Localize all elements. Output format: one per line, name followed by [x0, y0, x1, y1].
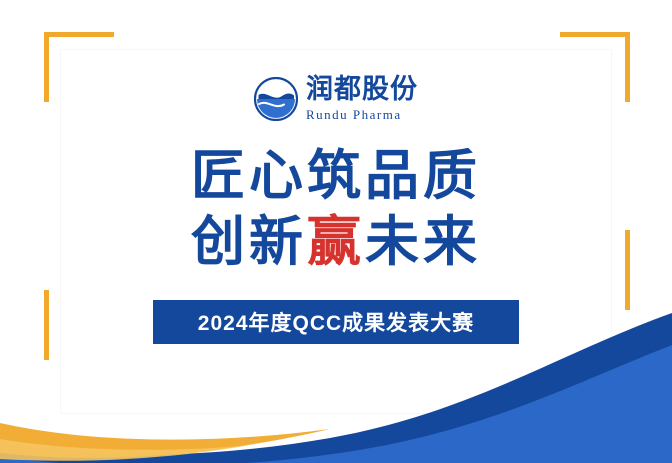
headline: 匠心筑品质 创新赢未来 [61, 144, 611, 276]
brand-name-cn: 润都股份 [306, 76, 418, 103]
subtitle-banner: 2024年度QCC成果发表大赛 [153, 300, 519, 344]
rundu-wave-logo-icon [254, 77, 298, 121]
subtitle-text: 2024年度QCC成果发表大赛 [198, 307, 474, 337]
brand-name-en: Rundu Pharma [306, 108, 402, 121]
headline-line-2-part1: 创新 [191, 212, 307, 272]
headline-line-2-part2: 未来 [365, 212, 481, 272]
headline-line-2: 创新赢未来 [61, 210, 611, 276]
brand-logo: 润都股份 Rundu Pharma [61, 76, 611, 121]
brand-text: 润都股份 Rundu Pharma [306, 76, 418, 121]
headline-line-2-highlight: 赢 [307, 212, 365, 272]
poster-canvas: 润都股份 Rundu Pharma 匠心筑品质 创新赢未来 2024年度QCC成… [0, 0, 672, 463]
headline-line-1: 匠心筑品质 [61, 144, 611, 210]
accent-bar-right [625, 230, 630, 310]
poster-card: 润都股份 Rundu Pharma 匠心筑品质 创新赢未来 2024年度QCC成… [61, 50, 611, 413]
accent-bar-left [44, 290, 49, 360]
